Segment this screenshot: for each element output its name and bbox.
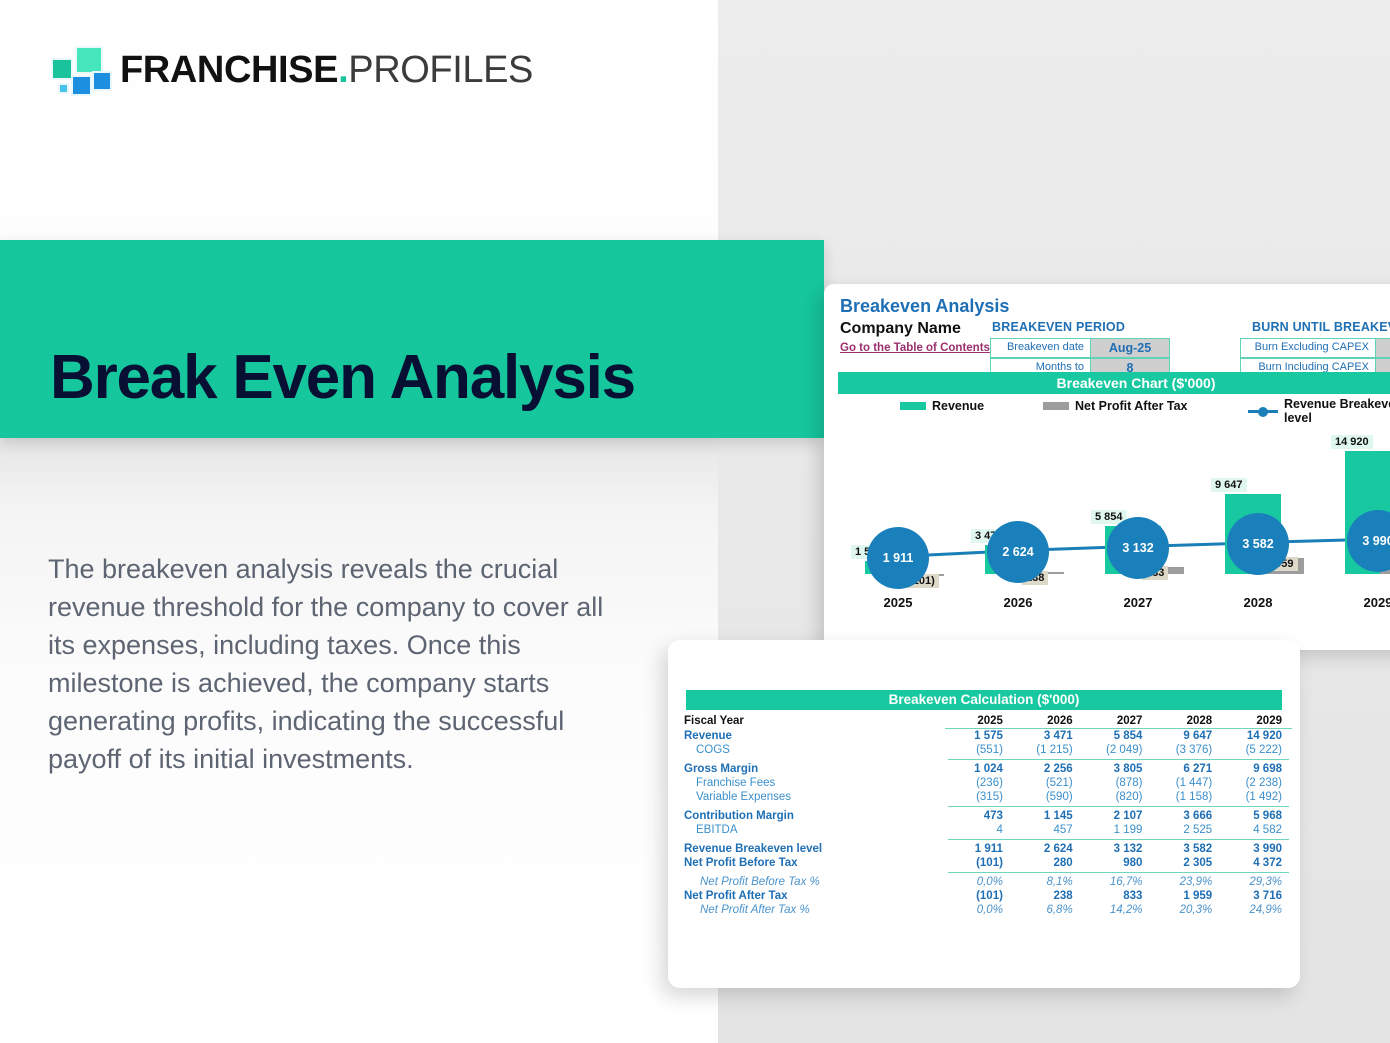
table-cell: 3 716 [1222,889,1292,903]
table-cell: 9 698 [1222,762,1292,776]
breakeven-chart-card[interactable]: Breakeven Analysis Company Name Go to th… [824,284,1390,650]
table-cell: (315) [945,790,1013,804]
table-row: Gross Margin1 0242 2563 8056 2719 698 [676,762,1292,776]
data-label-revenue-2028: 9 647 [1211,478,1247,492]
table-cell: 6 271 [1152,762,1222,776]
brand-name-bold: FRANCHISE [120,49,338,91]
brand-logo[interactable]: FRANCHISE.PROFILES [48,44,533,96]
table-cell: (101) [945,856,1013,870]
breakeven-marker-2028[interactable]: 3 582 [1227,513,1289,575]
row-label: COGS [676,743,945,757]
legend-swatch-revenue-icon [900,402,926,410]
table-cell: 3 805 [1083,762,1153,776]
brand-name-light: PROFILES [348,49,533,91]
burn-excluding-capex-label: Burn Excluding CAPEX [1241,339,1376,357]
table-cell: 4 582 [1222,823,1292,837]
company-name: Company Name [840,320,961,338]
legend-swatch-npat-icon [1043,402,1069,410]
brand-name-dot: . [338,49,348,91]
chart-legend: Revenue Net Profit After Tax Revenue Bre… [838,398,1390,418]
table-row: Franchise Fees(236)(521)(878)(1 447)(2 2… [676,776,1292,790]
burn-excluding-capex-row[interactable]: Burn Excluding CAPEX [1240,338,1390,358]
table-row: Net Profit After Tax %0,0%6,8%14,2%20,3%… [676,903,1292,917]
table-cell: (5 222) [1222,743,1292,757]
table-row: Revenue1 5753 4715 8549 64714 920 [676,729,1292,744]
table-cell: 6,8% [1013,903,1083,917]
burn-excluding-capex-value [1376,339,1390,357]
breakeven-date-row[interactable]: Breakeven date Aug-25 [990,338,1170,358]
legend-marker-breakeven-line-icon [1248,406,1278,416]
table-body: Revenue1 5753 4715 8549 64714 920COGS(55… [676,729,1292,918]
table-cell: (521) [1013,776,1083,790]
table-cell: (820) [1083,790,1153,804]
table-cell: 3 471 [1013,729,1083,744]
row-label: Revenue [676,729,945,744]
row-label: Contribution Margin [676,809,945,823]
table-cell: (2 238) [1222,776,1292,790]
table-cell: 1 024 [945,762,1013,776]
table-title: Breakeven Calculation ($'000) [686,690,1282,710]
table-cell: 8,1% [1013,875,1083,889]
table-cell: 2 107 [1083,809,1153,823]
table-cell: 1 199 [1083,823,1153,837]
table-header-row: Fiscal Year 2025 2026 2027 2028 2029 [676,714,1292,729]
table-cell: (1 447) [1152,776,1222,790]
breakeven-marker-2026[interactable]: 2 624 [987,521,1049,583]
row-label: Gross Margin [676,762,945,776]
table-row: Net Profit Before Tax %0,0%8,1%16,7%23,9… [676,875,1292,889]
table-cell: 24,9% [1222,903,1292,917]
table-cell: 4 372 [1222,856,1292,870]
table-cell: 14,2% [1083,903,1153,917]
legend-item-revenue-breakeven-level[interactable]: Revenue Breakeven level [1248,397,1390,425]
table-row: Revenue Breakeven level1 9112 6243 1323 … [676,842,1292,856]
table-cell: 2 525 [1152,823,1222,837]
row-label: Variable Expenses [676,790,945,804]
chart-title-band: Breakeven Chart ($'000) [838,372,1390,394]
breakeven-calculation-table: Fiscal Year 2025 2026 2027 2028 2029 Rev… [676,714,1292,917]
table-cell: 280 [1013,856,1083,870]
column-header-2029: 2029 [1222,714,1292,729]
chart-plot-area: 1 575( 101)1 91120253 4712382 62420265 8… [838,424,1390,614]
table-cell: 833 [1083,889,1153,903]
table-cell: 3 132 [1083,842,1153,856]
table-cell: 3 666 [1152,809,1222,823]
table-cell: 1 911 [945,842,1013,856]
column-header-2026: 2026 [1013,714,1083,729]
table-title-band: Breakeven Calculation ($'000) [686,690,1282,710]
page-title: Break Even Analysis [50,345,635,410]
data-label-revenue-2029: 14 920 [1331,435,1373,449]
column-header-2027: 2027 [1083,714,1153,729]
table-cell: 5 854 [1083,729,1153,744]
row-label: Revenue Breakeven level [676,842,945,856]
table-cell: 473 [945,809,1013,823]
legend-label-revenue: Revenue [932,399,984,413]
table-row: EBITDA44571 1992 5254 582 [676,823,1292,837]
logo-squares-icon [48,44,106,96]
table-cell: 2 305 [1152,856,1222,870]
x-axis-tick-2027: 2027 [1098,595,1178,610]
table-cell: (551) [945,743,1013,757]
table-cell: (1 215) [1013,743,1083,757]
table-cell: (878) [1083,776,1153,790]
table-cell: 9 647 [1152,729,1222,744]
table-cell: 5 968 [1222,809,1292,823]
table-cell: (1 492) [1222,790,1292,804]
column-header-2028: 2028 [1152,714,1222,729]
breakeven-calculation-card[interactable]: Breakeven Calculation ($'000) Fiscal Yea… [668,640,1300,988]
table-cell: 1 575 [945,729,1013,744]
breakeven-marker-2027[interactable]: 3 132 [1107,517,1169,579]
table-cell: 0,0% [945,903,1013,917]
table-cell: (101) [945,889,1013,903]
x-axis-tick-2025: 2025 [858,595,938,610]
legend-label-breakeven: Revenue Breakeven level [1284,397,1390,425]
hero-description: The breakeven analysis reveals the cruci… [48,550,623,778]
table-row: Variable Expenses(315)(590)(820)(1 158)(… [676,790,1292,804]
table-cell: (2 049) [1083,743,1153,757]
table-cell: 0,0% [945,875,1013,889]
x-axis-tick-2028: 2028 [1218,595,1298,610]
table-cell: 3 582 [1152,842,1222,856]
chart-title: Breakeven Chart ($'000) [838,372,1390,394]
table-row: Net Profit After Tax(101)2388331 9593 71… [676,889,1292,903]
table-of-contents-link[interactable]: Go to the Table of Contents [840,342,990,354]
row-label: Franchise Fees [676,776,945,790]
x-axis-tick-2029: 2029 [1338,595,1390,610]
row-label: EBITDA [676,823,945,837]
table-cell: (236) [945,776,1013,790]
column-header-fiscal-year: Fiscal Year [676,714,945,729]
breakeven-marker-2025[interactable]: 1 911 [867,527,929,589]
table-cell: 3 990 [1222,842,1292,856]
table-cell: (1 158) [1152,790,1222,804]
table-cell: 20,3% [1152,903,1222,917]
burn-until-breakeven-heading: BURN UNTIL BREAKEVEN [1252,320,1390,334]
row-label: Net Profit After Tax % [676,903,945,917]
breakeven-date-value: Aug-25 [1091,339,1169,357]
breakeven-date-label: Breakeven date [991,339,1091,357]
table-cell: 29,3% [1222,875,1292,889]
table-cell: 1 959 [1152,889,1222,903]
legend-label-npat: Net Profit After Tax [1075,399,1188,413]
sheet-title: Breakeven Analysis [840,296,1009,317]
table-cell: (590) [1013,790,1083,804]
table-cell: 23,9% [1152,875,1222,889]
table-cell: 2 624 [1013,842,1083,856]
row-label: Net Profit Before Tax [676,856,945,870]
legend-item-revenue[interactable]: Revenue [900,399,984,413]
table-row: Net Profit Before Tax(101)2809802 3054 3… [676,856,1292,870]
brand-wordmark: FRANCHISE.PROFILES [120,49,533,92]
breakeven-period-heading: BREAKEVEN PERIOD [992,320,1125,334]
table-cell: 1 145 [1013,809,1083,823]
table-cell: 4 [945,823,1013,837]
table-row: COGS(551)(1 215)(2 049)(3 376)(5 222) [676,743,1292,757]
table-cell: 2 256 [1013,762,1083,776]
table-cell: 16,7% [1083,875,1153,889]
table-cell: 238 [1013,889,1083,903]
legend-item-net-profit-after-tax[interactable]: Net Profit After Tax [1043,399,1188,413]
x-axis-tick-2026: 2026 [978,595,1058,610]
row-label: Net Profit Before Tax % [676,875,945,889]
row-label: Net Profit After Tax [676,889,945,903]
table-cell: (3 376) [1152,743,1222,757]
table-cell: 14 920 [1222,729,1292,744]
column-header-2025: 2025 [945,714,1013,729]
table-row: Contribution Margin4731 1452 1073 6665 9… [676,809,1292,823]
table-cell: 457 [1013,823,1083,837]
table-cell: 980 [1083,856,1153,870]
